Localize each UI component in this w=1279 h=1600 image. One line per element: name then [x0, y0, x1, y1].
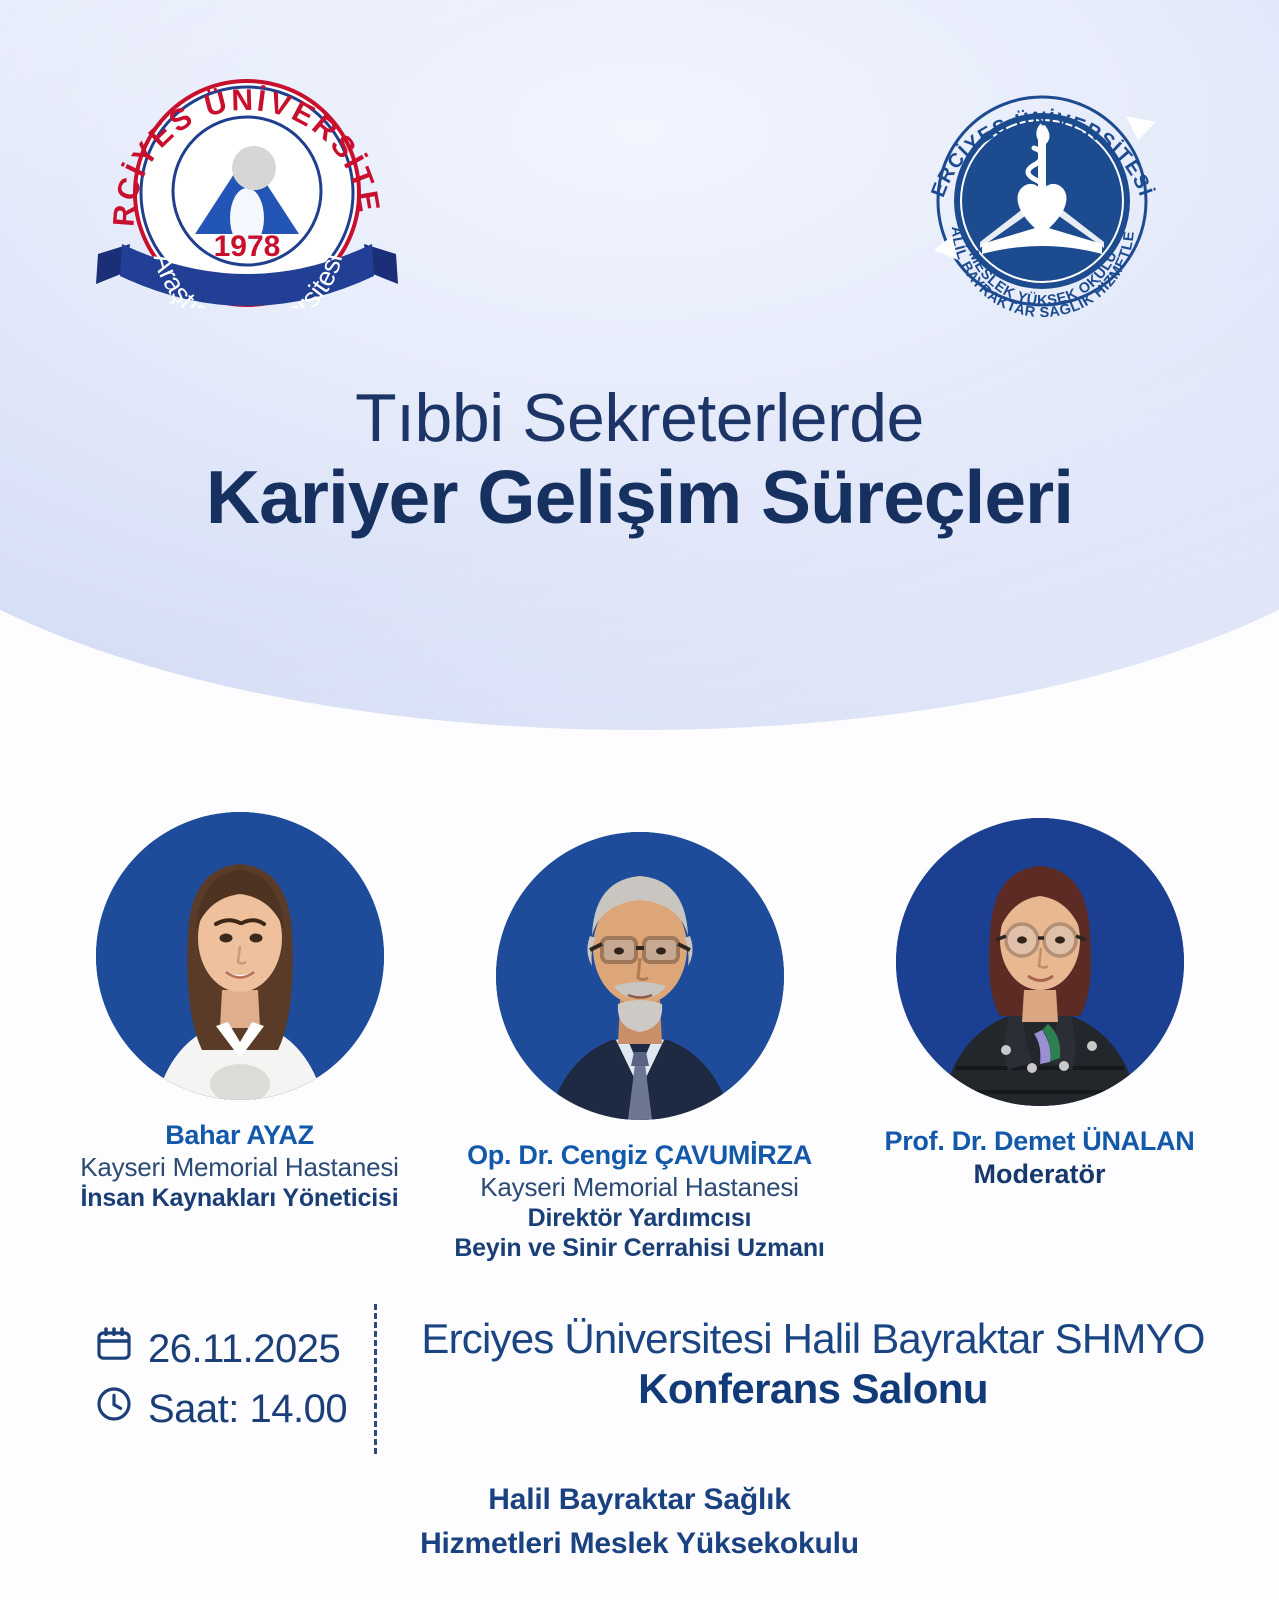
venue-line-1: Erciyes Üniversitesi Halil Bayraktar SHM… — [413, 1314, 1213, 1364]
event-info-row: 26.11.2025 Saat: 14.00 Erciyes Üniversit… — [0, 1300, 1279, 1458]
event-poster: ERCİYES ÜNİVERSİTESİ 1978 Araştırma Üniv… — [0, 0, 1279, 1600]
svg-text:1978: 1978 — [214, 230, 281, 263]
footer-organizer: Halil Bayraktar Sağlık Hizmetleri Meslek… — [0, 1478, 1279, 1565]
venue-line-2: Konferans Salonu — [413, 1364, 1213, 1414]
clock-icon — [94, 1384, 134, 1434]
speaker-role: Direktör Yardımcısı — [440, 1203, 840, 1233]
speaker-name: Op. Dr. Cengiz ÇAVUMİRZA — [440, 1140, 840, 1172]
speaker-org: Kayseri Memorial Hastanesi — [40, 1152, 440, 1183]
speaker-org: Kayseri Memorial Hastanesi — [440, 1172, 840, 1203]
calendar-icon — [94, 1324, 134, 1374]
speaker-role-secondary: Beyin ve Sinir Cerrahisi Uzmanı — [440, 1233, 840, 1263]
halil-bayraktar-shmyo-logo: ERCİYES ÜNİVERSİTESİ HALİL BAYRAKTAR SAĞ… — [912, 74, 1172, 324]
title-line-2: Kariyer Gelişim Süreçleri — [0, 455, 1279, 539]
event-time-item: Saat: 14.00 — [94, 1384, 366, 1434]
event-date-item: 26.11.2025 — [94, 1324, 366, 1374]
speaker-card-1: Bahar AYAZ Kayseri Memorial Hastanesi İn… — [40, 812, 440, 1213]
erciyes-universitesi-logo: ERCİYES ÜNİVERSİTESİ 1978 Araştırma Üniv… — [82, 58, 412, 308]
speaker-name: Prof. Dr. Demet ÜNALAN — [840, 1126, 1240, 1158]
page-title: Tıbbi Sekreterlerde Kariyer Gelişim Süre… — [0, 382, 1279, 539]
speaker-card-3: Prof. Dr. Demet ÜNALAN Moderatör — [840, 818, 1240, 1192]
footer-line-2: Hizmetleri Meslek Yüksekokulu — [0, 1522, 1279, 1566]
speaker-role: İnsan Kaynakları Yöneticisi — [40, 1183, 440, 1213]
speaker-photo-cengiz-cavumirza — [496, 832, 784, 1120]
speaker-photo-bahar-ayaz — [96, 812, 384, 1100]
speaker-card-2: Op. Dr. Cengiz ÇAVUMİRZA Kayseri Memoria… — [440, 832, 840, 1263]
event-time-text: Saat: 14.00 — [148, 1387, 347, 1432]
vertical-divider — [374, 1304, 377, 1454]
speaker-role: Moderatör — [840, 1158, 1240, 1192]
speaker-name: Bahar AYAZ — [40, 1120, 440, 1152]
event-datetime-block: 26.11.2025 Saat: 14.00 — [66, 1300, 366, 1458]
speaker-photo-demet-unalan — [896, 818, 1184, 1106]
event-date-text: 26.11.2025 — [148, 1327, 340, 1372]
event-venue-block: Erciyes Üniversitesi Halil Bayraktar SHM… — [413, 1300, 1213, 1458]
speakers-row: Bahar AYAZ Kayseri Memorial Hastanesi İn… — [0, 806, 1279, 1263]
footer-line-1: Halil Bayraktar Sağlık — [0, 1478, 1279, 1522]
title-line-1: Tıbbi Sekreterlerde — [0, 382, 1279, 455]
